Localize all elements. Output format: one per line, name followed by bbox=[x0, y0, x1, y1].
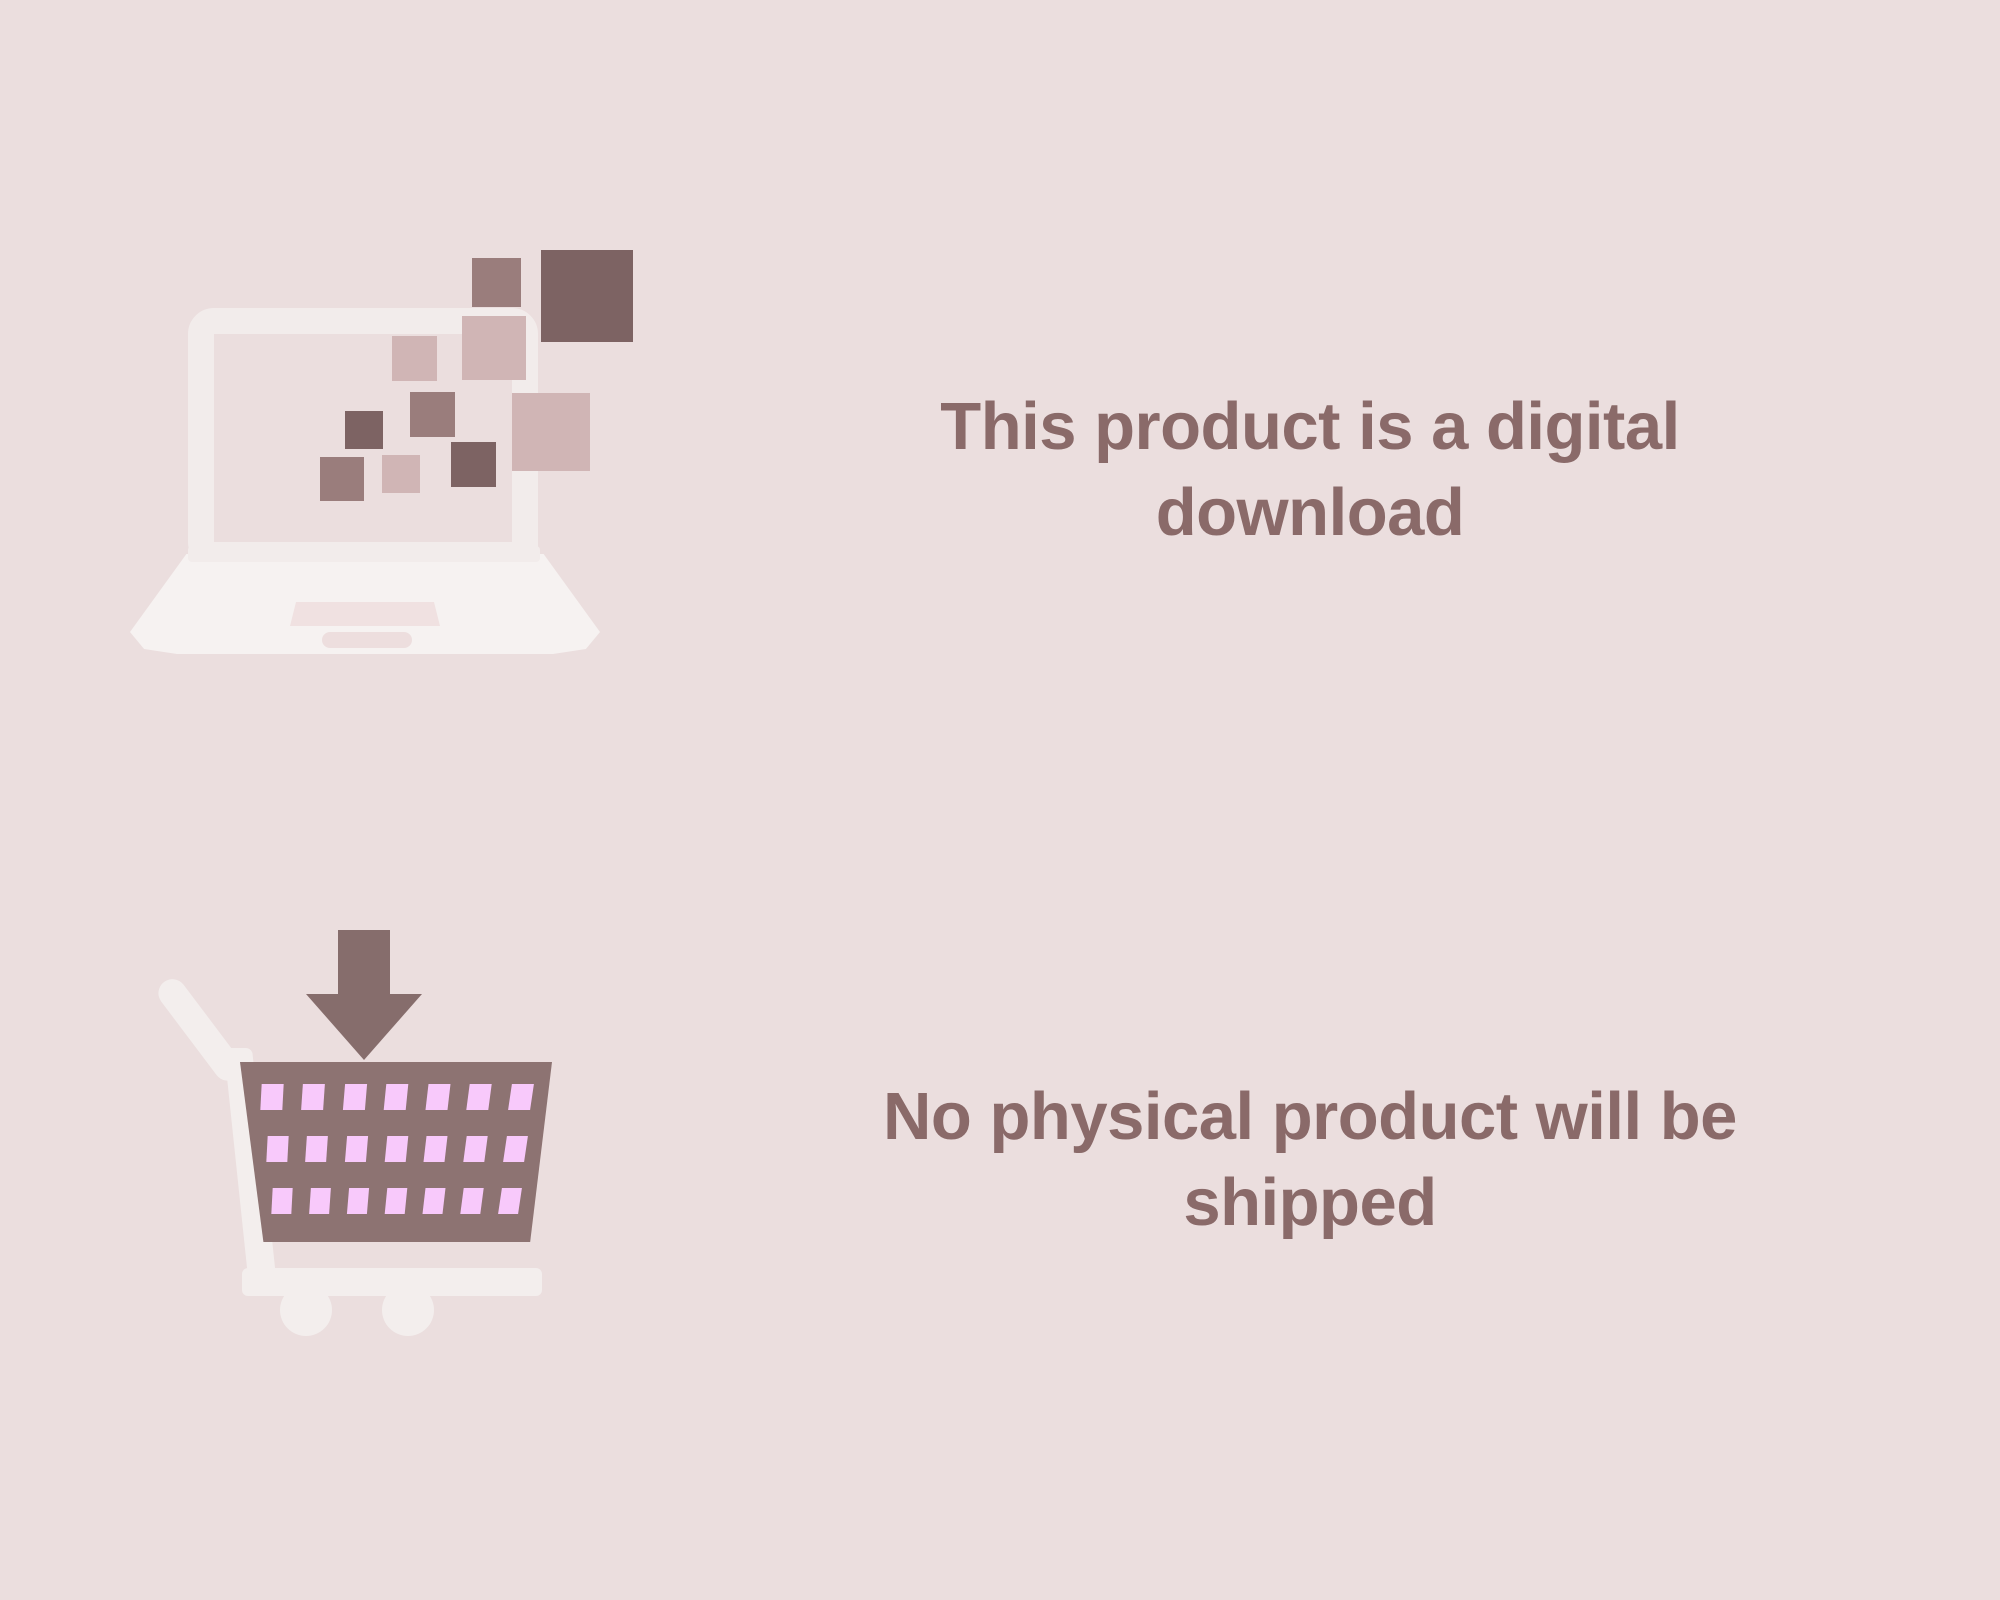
cart-basket-cell bbox=[260, 1084, 283, 1110]
cart-basket-cell bbox=[343, 1084, 367, 1110]
digital-download-label: This product is a digital download bbox=[750, 384, 1870, 556]
laptop-touch-pill bbox=[322, 632, 412, 648]
cart-basket-cell bbox=[301, 1084, 324, 1110]
cart-wheel-left bbox=[280, 1284, 332, 1336]
cart-basket-cell bbox=[305, 1136, 327, 1162]
pixel-square-8 bbox=[451, 442, 496, 487]
cart-basket-cell bbox=[345, 1136, 368, 1162]
pixel-square-1 bbox=[472, 258, 521, 307]
cart-basket-cell bbox=[508, 1084, 533, 1110]
cart-icon-cell bbox=[130, 920, 750, 1400]
pixel-square-2 bbox=[541, 250, 633, 342]
cart-basket-cell bbox=[347, 1188, 369, 1214]
no-physical-product-label: No physical product will be shipped bbox=[750, 1074, 1870, 1246]
cart-basket-cell bbox=[466, 1084, 491, 1110]
pixel-square-9 bbox=[320, 457, 364, 501]
cart-basket-grid bbox=[240, 1062, 552, 1242]
pixel-square-5 bbox=[410, 392, 455, 437]
promo-graphic: This product is a digital download No ph… bbox=[0, 0, 2000, 1600]
cart-basket-cell bbox=[266, 1136, 288, 1162]
cart-basket-cell bbox=[423, 1188, 446, 1214]
pixel-square-7 bbox=[512, 393, 590, 471]
cart-basket-cell bbox=[425, 1084, 450, 1110]
down-arrow-head bbox=[306, 994, 422, 1060]
cart-basket-cell bbox=[498, 1188, 522, 1214]
laptop-with-pixels-icon bbox=[130, 230, 750, 710]
cart-basket-cell bbox=[384, 1136, 407, 1162]
laptop-trackpad bbox=[290, 602, 440, 626]
cart-basket-cell bbox=[309, 1188, 331, 1214]
cart-wheel-right bbox=[382, 1284, 434, 1336]
digital-download-row: This product is a digital download bbox=[130, 230, 1870, 710]
pixel-square-3 bbox=[462, 316, 526, 380]
no-physical-product-row: No physical product will be shipped bbox=[130, 920, 1870, 1400]
shopping-cart-with-down-arrow-icon bbox=[130, 920, 750, 1400]
cart-basket bbox=[240, 1062, 552, 1242]
cart-basket-cell bbox=[384, 1084, 408, 1110]
laptop-icon-cell bbox=[130, 230, 750, 710]
cart-basket-cell bbox=[424, 1136, 448, 1162]
down-arrow-stem bbox=[338, 930, 390, 1000]
cart-basket-cell bbox=[271, 1188, 292, 1214]
laptop-base-strip bbox=[188, 546, 540, 562]
cart-basket-cell bbox=[463, 1136, 487, 1162]
cart-basket-cell bbox=[460, 1188, 483, 1214]
cart-basket-cell bbox=[503, 1136, 527, 1162]
pixel-square-6 bbox=[345, 411, 383, 449]
pixel-square-10 bbox=[382, 455, 420, 493]
cart-basket-cell bbox=[385, 1188, 407, 1214]
pixel-square-4 bbox=[392, 336, 437, 381]
